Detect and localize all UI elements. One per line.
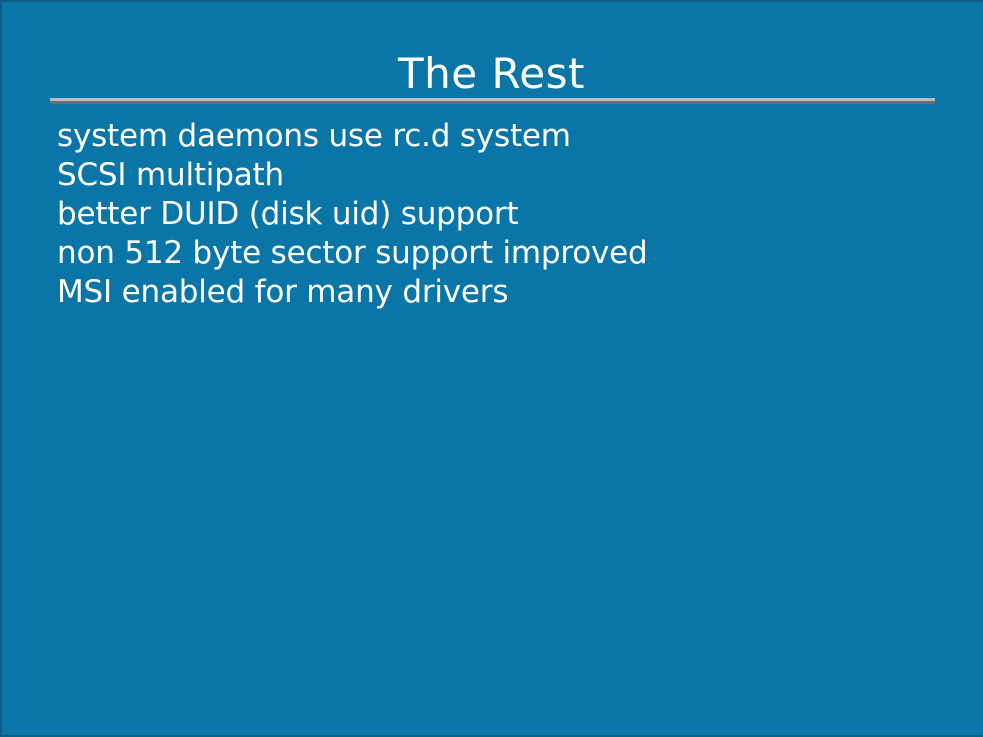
slide-border-top xyxy=(0,0,983,2)
body-line: MSI enabled for many drivers xyxy=(57,273,937,312)
body-line: SCSI multipath xyxy=(57,156,937,195)
slide-body: system daemons use rc.d system SCSI mult… xyxy=(57,117,937,312)
body-line: system daemons use rc.d system xyxy=(57,117,937,156)
title-separator-rule xyxy=(50,98,935,104)
rule-shadow xyxy=(50,101,935,104)
slide-border-left xyxy=(0,0,2,737)
slide-title: The Rest xyxy=(0,50,983,98)
presentation-slide: The Rest system daemons use rc.d system … xyxy=(0,0,983,737)
body-line: non 512 byte sector support improved xyxy=(57,234,937,273)
body-line: better DUID (disk uid) support xyxy=(57,195,937,234)
